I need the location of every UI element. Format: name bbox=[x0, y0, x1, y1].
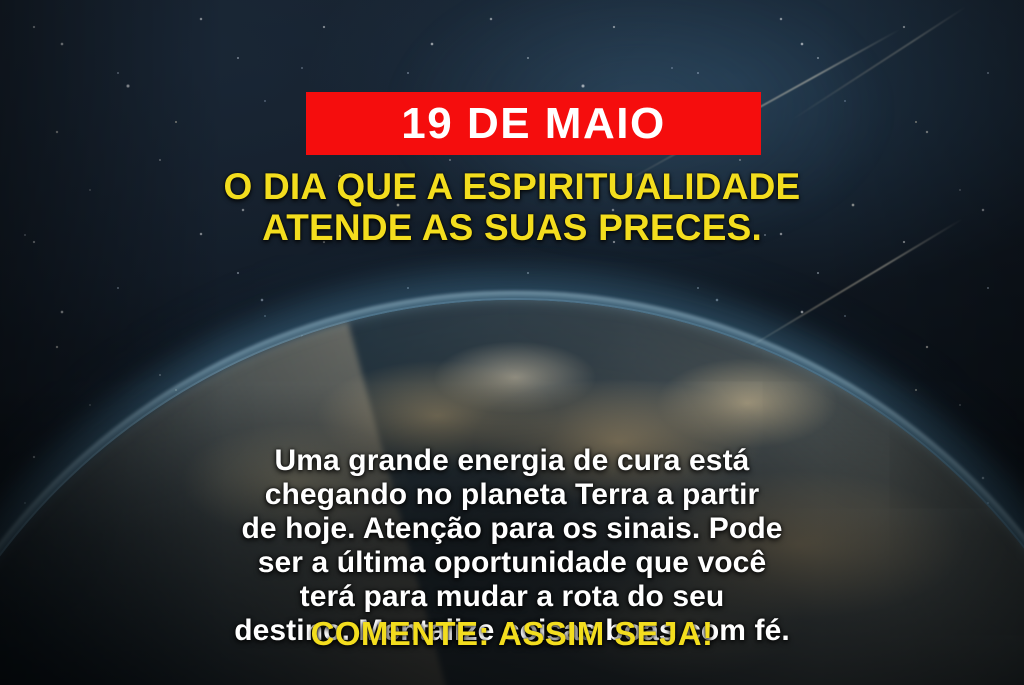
call-to-action-text: COMENTE: ASSIM SEJA! bbox=[311, 615, 714, 652]
poster-canvas: 19 DE MAIO O DIA QUE A ESPIRITUALIDADE A… bbox=[0, 0, 1024, 685]
call-to-action: COMENTE: ASSIM SEJA! bbox=[0, 615, 1024, 653]
body-line-2: chegando no planeta Terra a partir bbox=[0, 478, 1024, 512]
headline-line-2: ATENDE AS SUAS PRECES. bbox=[0, 207, 1024, 248]
headline-line-1: O DIA QUE A ESPIRITUALIDADE bbox=[224, 166, 801, 207]
headline: O DIA QUE A ESPIRITUALIDADE ATENDE AS SU… bbox=[0, 166, 1024, 248]
body-line-5: terá para mudar a rota do seu bbox=[0, 580, 1024, 614]
body-line-4: ser a última oportunidade que você bbox=[0, 546, 1024, 580]
poster-content: 19 DE MAIO O DIA QUE A ESPIRITUALIDADE A… bbox=[0, 0, 1024, 685]
date-banner-text: 19 DE MAIO bbox=[401, 102, 665, 146]
body-line-1: Uma grande energia de cura está bbox=[0, 444, 1024, 478]
body-line-3: de hoje. Atenção para os sinais. Pode bbox=[0, 512, 1024, 546]
date-banner: 19 DE MAIO bbox=[306, 92, 761, 155]
